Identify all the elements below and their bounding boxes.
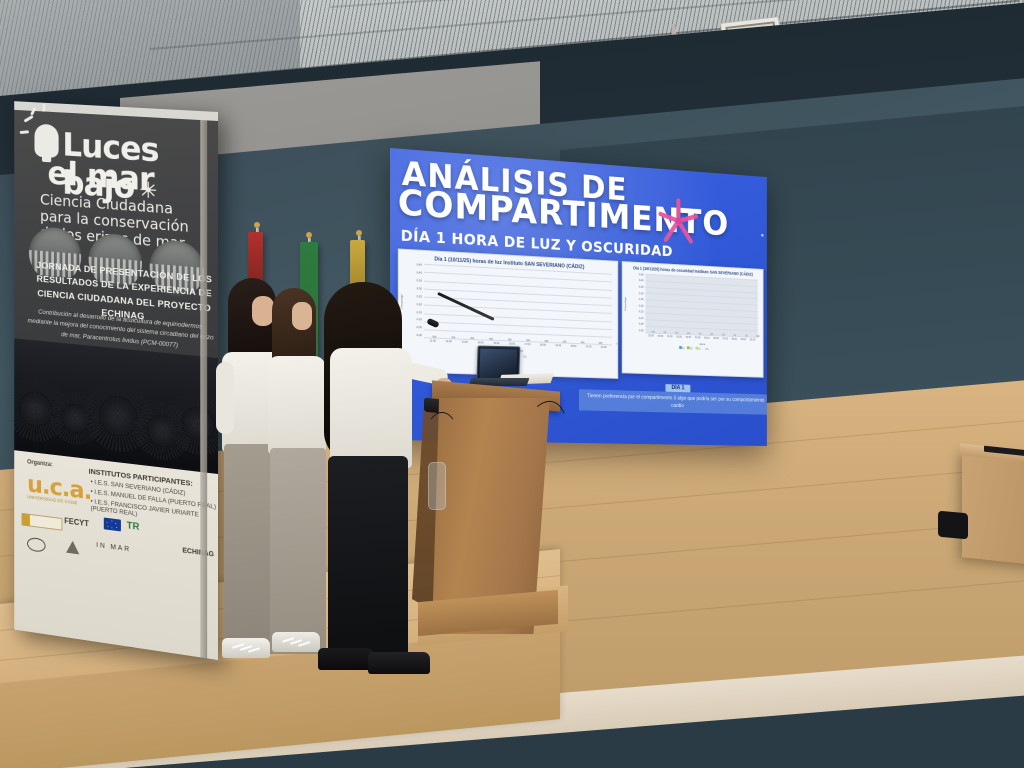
banner-footer-logos: Organiza: u.c.a. UNIVERSIDAD DE CÁDIZ IN… [14,450,218,660]
x-tick: 13:00 [462,341,468,344]
fecyt-logo: FECYT [64,516,89,528]
bar-group-right [646,274,757,337]
legend-item: C2 [687,346,692,350]
legend-item: C4 [703,347,708,351]
y-axis-ticks-left: 0,450,400,350,300,250,200,150,100,050,00 [407,263,421,337]
bar-cluster [425,336,436,338]
x-tick: 01:00 [667,335,673,338]
bar-cluster [444,336,455,338]
legend-item: C3 [695,346,700,350]
shoe [318,648,374,670]
partner-logo-triangle [66,540,79,554]
x-tick: 00:00 [658,335,664,338]
x-tick: 18:00 [540,344,546,347]
x-tick: 14:00 [478,341,484,344]
bag-on-floor [938,511,968,540]
bar-C4 [616,343,618,345]
side-desk [962,449,1024,571]
gobierno-espana-logo [22,513,63,531]
bar-C4 [432,336,436,338]
bar-cluster [682,332,690,334]
bar-C4 [722,333,725,335]
shoe [368,652,430,674]
slide-note-text: Tienen preferencia por el compartimento … [579,389,767,415]
bar-cluster [646,330,654,332]
x-tick: 09:00 [741,338,746,341]
bar-cluster [705,333,713,335]
partner-logo-circle [27,537,46,553]
water-bottle [428,462,446,510]
starfish-icon [652,195,704,247]
x-tick: 22:00 [601,346,607,349]
bar-C4 [507,339,511,341]
bar-C4 [745,334,748,336]
bar-C4 [652,331,655,333]
bar-cluster [670,331,678,333]
bar-C4 [526,339,530,341]
bar-cluster [592,342,602,344]
bar-cluster [482,338,493,340]
auditorium-presentation-photo: ANÁLISIS DE COMPARTIMENTO DÍA 1 HORA DE … [0,0,1024,768]
sea-urchin-icon [140,181,156,199]
x-tick: 21:00 [586,346,592,349]
bar-cluster [751,335,759,337]
x-tick: 08:00 [732,338,737,341]
x-tick: 20:00 [571,345,577,348]
x-tick: 10:00 [750,338,755,341]
legend-item: C1 [679,346,684,350]
organiza-label: Organiza: [27,459,53,468]
bar-cluster [574,341,584,343]
bar-cluster [463,337,474,339]
x-tick: 15:00 [493,342,499,345]
x-tick: 03:00 [686,336,692,339]
x-tick: 12:00 [446,340,452,343]
bar-C4 [580,341,584,343]
x-tick: 07:00 [722,337,727,340]
x-tick: 11:00 [430,340,436,343]
arm [216,362,234,434]
bar-group-left [425,264,611,344]
bar-cluster [717,333,725,335]
bar-C4 [733,334,736,336]
bar-C4 [710,333,713,335]
banner-support-pole [200,120,207,659]
rollup-banner: Luces bajo el mar Ciencia Ciudadana para… [14,101,218,660]
bar-C4 [544,340,548,342]
bar-cluster [519,339,530,341]
chart-card-dark-hours: Día 1 (10/11/25) horas de oscuridad Inst… [622,261,764,378]
eu-flag-logo [104,517,121,531]
legend-item: C4 [521,355,527,359]
face [292,302,312,330]
screen-corner-marker [761,234,763,237]
bar-C4 [675,332,678,334]
x-tick: 04:00 [695,336,701,339]
bar-C4 [470,337,474,339]
x-tick: 05:00 [704,337,710,340]
bar-cluster [740,334,748,336]
bar-C4 [663,331,666,333]
bar-C4 [489,338,493,340]
y-axis-ticks-right: 0,450,400,350,300,250,200,150,100,050,00 [631,273,644,332]
x-tick: 19:00 [555,344,561,347]
bar-C4 [756,335,759,337]
inmar-logo: IN MAR [96,542,131,553]
bar-C4 [451,337,455,339]
bar-C4 [687,332,690,334]
x-tick: 06:00 [713,337,718,340]
bar-cluster [658,331,666,333]
bar-C4 [699,333,702,335]
x-tick: 02:00 [676,335,682,338]
bar-cluster [728,334,736,336]
bar-C4 [598,342,602,344]
bar-cluster [500,338,511,340]
project-tag: ECHINAG [182,547,214,558]
bar-cluster [556,341,566,343]
bar-cluster [763,335,764,337]
bar-cluster [609,343,618,345]
x-tick: 17:00 [524,343,530,346]
bar-C4 [562,341,566,343]
bar-cluster [537,340,547,342]
face [252,296,274,326]
bar-cluster [694,332,702,334]
pants [328,456,408,664]
x-tick: 23:00 [648,334,654,337]
junta-andalucia-logo: TR [127,520,140,532]
pants [270,448,326,654]
